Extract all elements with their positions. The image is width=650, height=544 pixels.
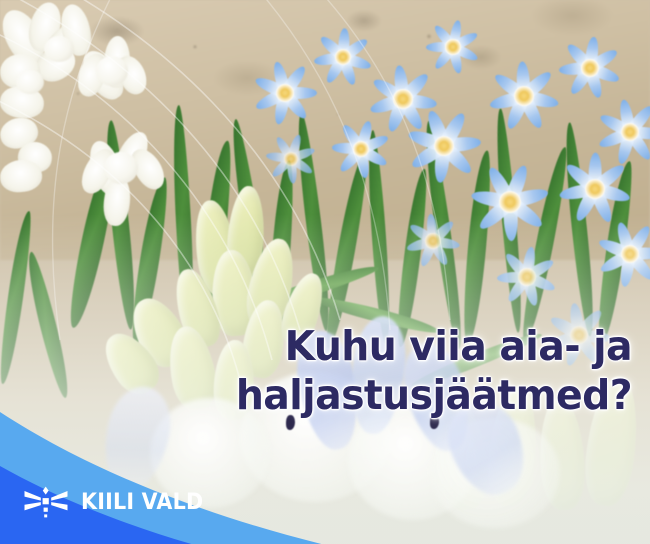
brand-logo[interactable]: KIILI VALD	[24, 486, 211, 519]
brand-wordmark: KIILI VALD	[81, 490, 203, 515]
kiili-vald-dragonfly-logo-mark-icon	[24, 486, 68, 519]
kiili-vald-promo-banner: Kuhu viia aia- ja haljastusjäätmed?	[0, 0, 650, 544]
